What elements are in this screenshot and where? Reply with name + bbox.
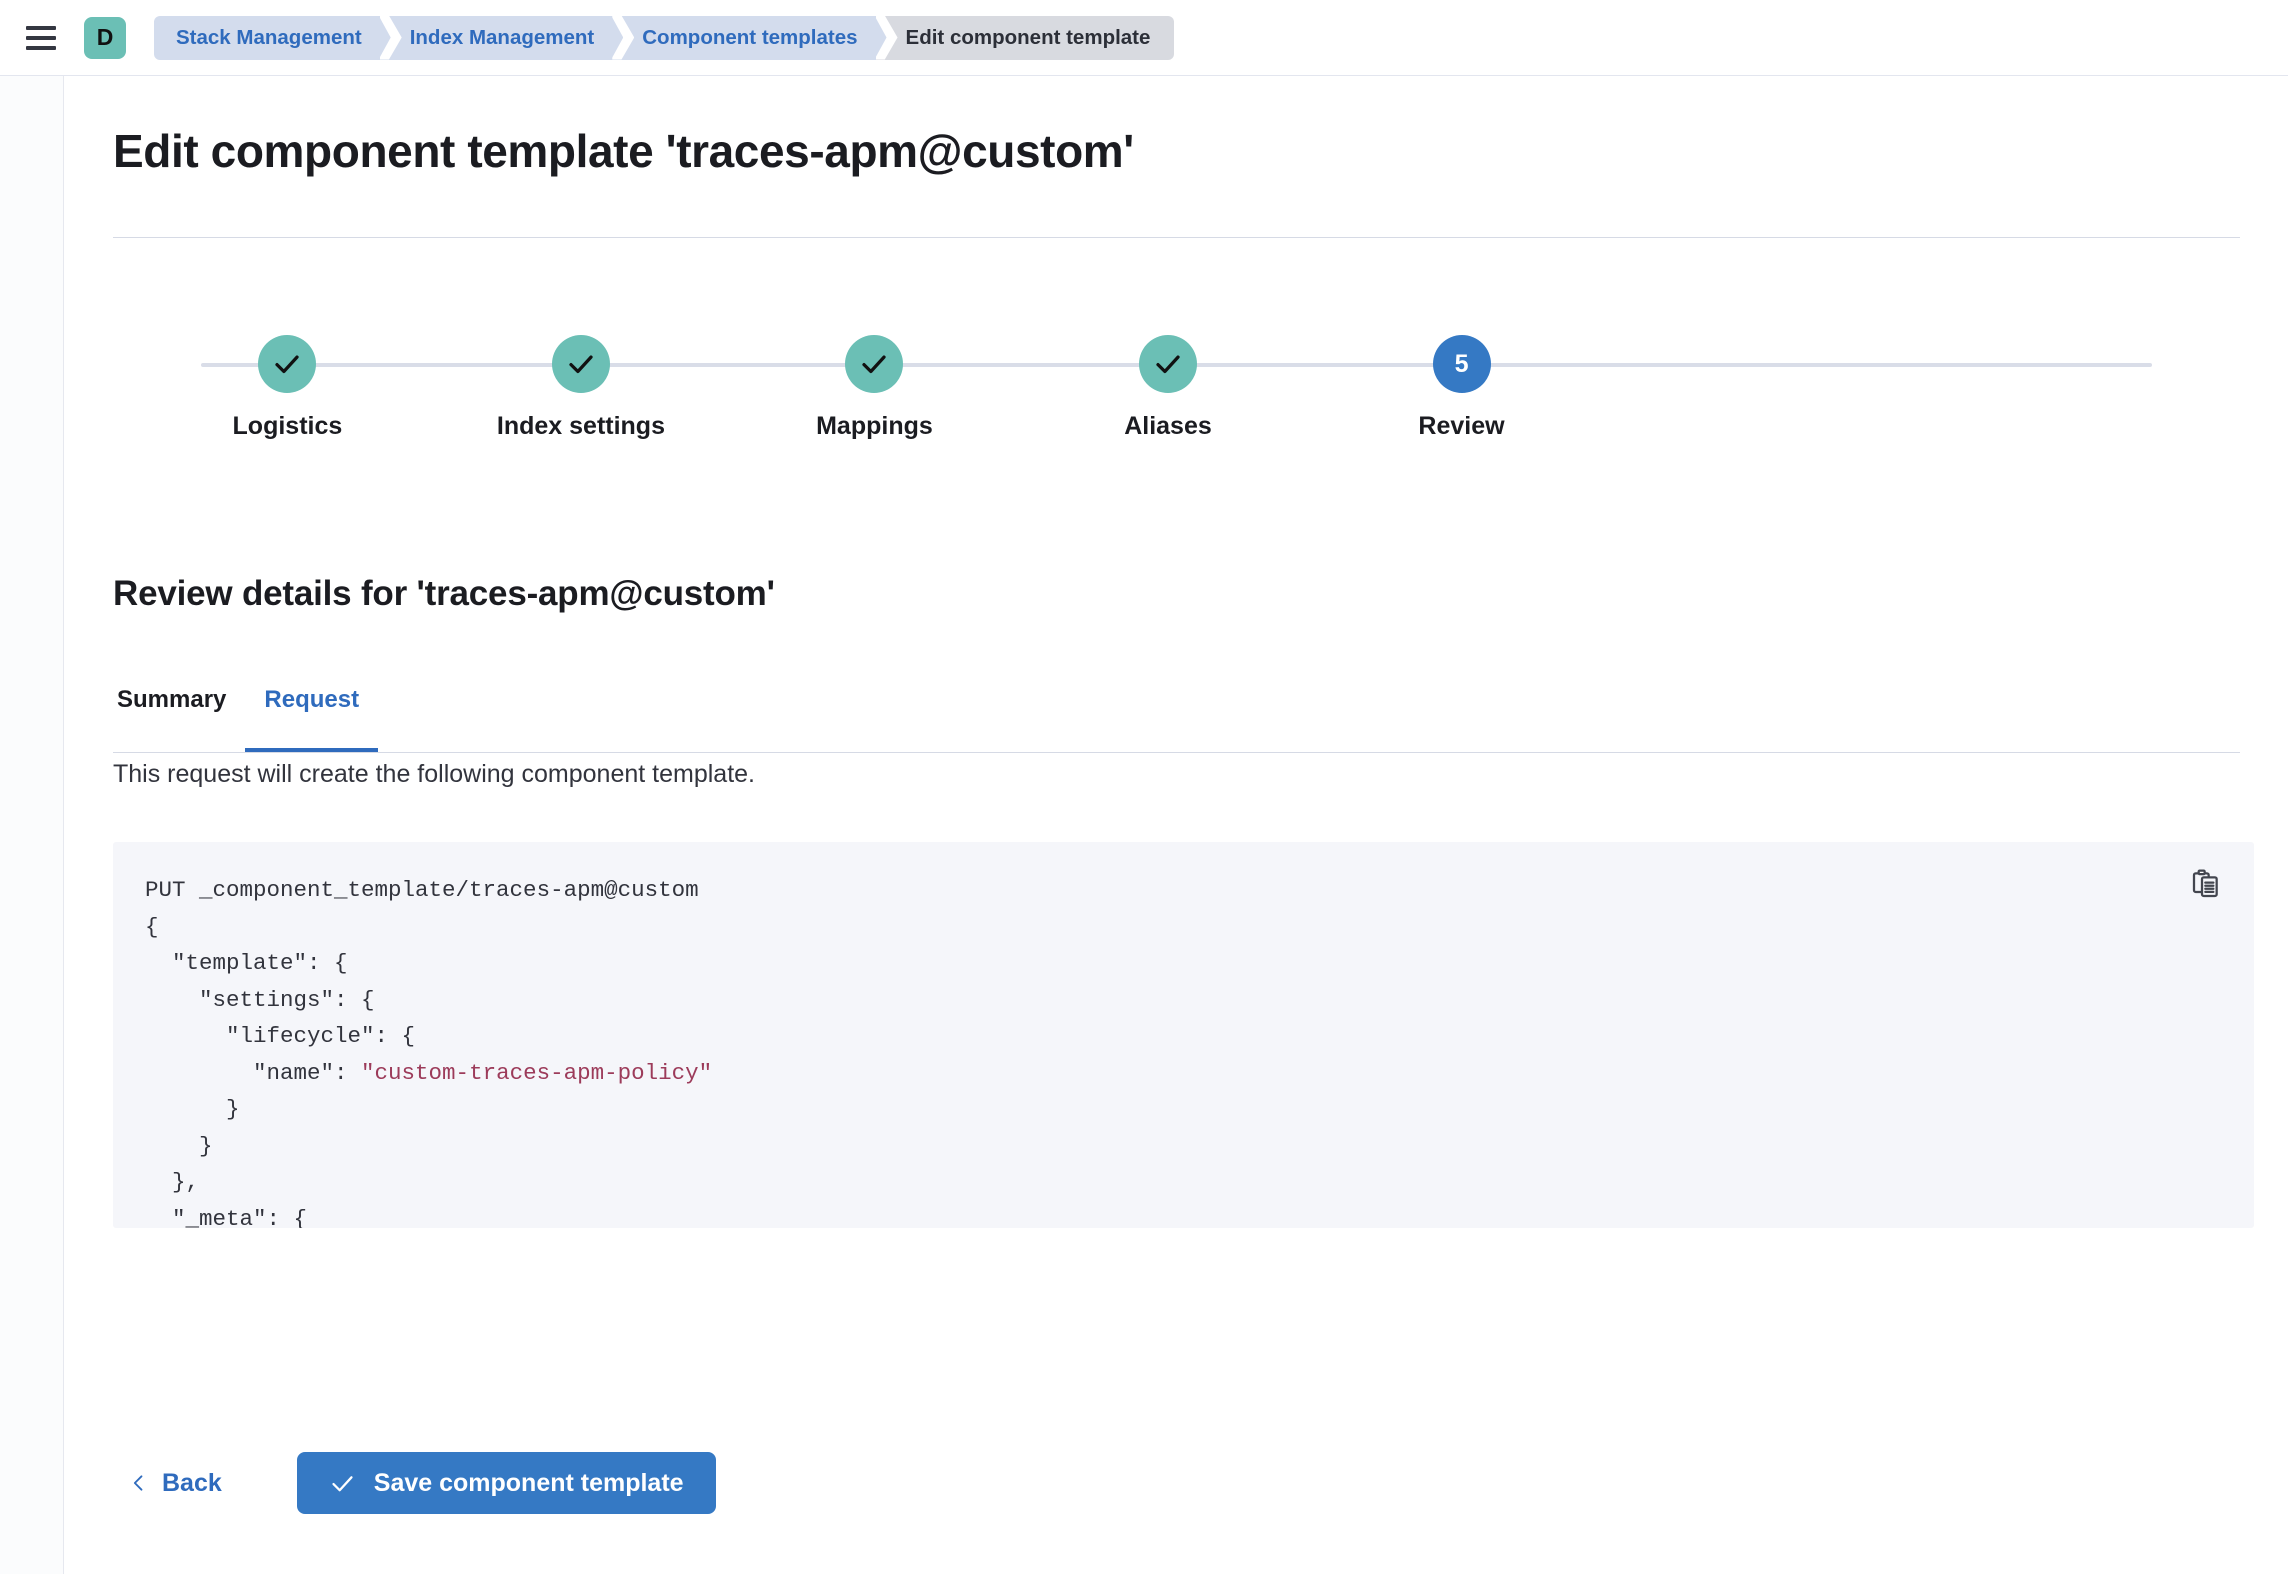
chevron-left-icon: [129, 1469, 149, 1497]
collapsed-side-nav: [0, 76, 64, 1574]
review-tabs: Summary Request: [113, 683, 2240, 753]
step-review[interactable]: 5 Review: [1374, 335, 1550, 441]
breadcrumb-item-stack-management[interactable]: Stack Management: [154, 16, 380, 60]
step-label: Mappings: [816, 412, 933, 441]
wizard-stepper: Logistics Index settings Mappings: [113, 335, 2240, 445]
back-button-label: Back: [162, 1469, 222, 1498]
step-label: Review: [1418, 412, 1504, 441]
request-description: This request will create the following c…: [113, 760, 755, 789]
space-avatar[interactable]: D: [84, 17, 126, 59]
tab-request[interactable]: Request: [245, 683, 378, 752]
hamburger-menu-icon[interactable]: [26, 23, 60, 53]
step-status-complete-icon: [845, 335, 903, 393]
step-label: Aliases: [1124, 412, 1212, 441]
save-button-label: Save component template: [374, 1469, 684, 1498]
save-component-template-button[interactable]: Save component template: [297, 1452, 716, 1514]
step-status-complete-icon: [258, 335, 316, 393]
section-title: Review details for 'traces-apm@custom': [113, 574, 775, 614]
breadcrumb: Stack Management Index Management Compon…: [154, 16, 1174, 60]
step-logistics[interactable]: Logistics: [199, 335, 375, 441]
step-status-complete-icon: [1139, 335, 1197, 393]
global-header: D Stack Management Index Management Comp…: [0, 0, 2288, 76]
step-status-complete-icon: [552, 335, 610, 393]
request-code-block: PUT _component_template/traces-apm@custo…: [113, 842, 2254, 1228]
step-mappings[interactable]: Mappings: [786, 335, 962, 441]
page-title: Edit component template 'traces-apm@cust…: [113, 124, 1134, 178]
main-content: Edit component template 'traces-apm@cust…: [65, 76, 2288, 1574]
copy-to-clipboard-icon[interactable]: [2182, 860, 2230, 908]
step-number: 5: [1433, 335, 1491, 393]
tab-summary[interactable]: Summary: [113, 683, 245, 752]
step-label: Logistics: [233, 412, 343, 441]
back-button[interactable]: Back: [113, 1459, 238, 1508]
breadcrumb-item-edit-component-template[interactable]: Edit component template: [876, 16, 1175, 60]
step-aliases[interactable]: Aliases: [1080, 335, 1256, 441]
wizard-actions: Back Save component template: [113, 1452, 716, 1514]
title-divider: [113, 237, 2240, 238]
breadcrumb-item-index-management[interactable]: Index Management: [380, 16, 613, 60]
breadcrumb-item-component-templates[interactable]: Component templates: [612, 16, 875, 60]
request-code-text: PUT _component_template/traces-apm@custo…: [145, 872, 712, 1228]
step-label: Index settings: [497, 412, 665, 441]
check-icon: [329, 1470, 356, 1497]
step-index-settings[interactable]: Index settings: [493, 335, 669, 441]
